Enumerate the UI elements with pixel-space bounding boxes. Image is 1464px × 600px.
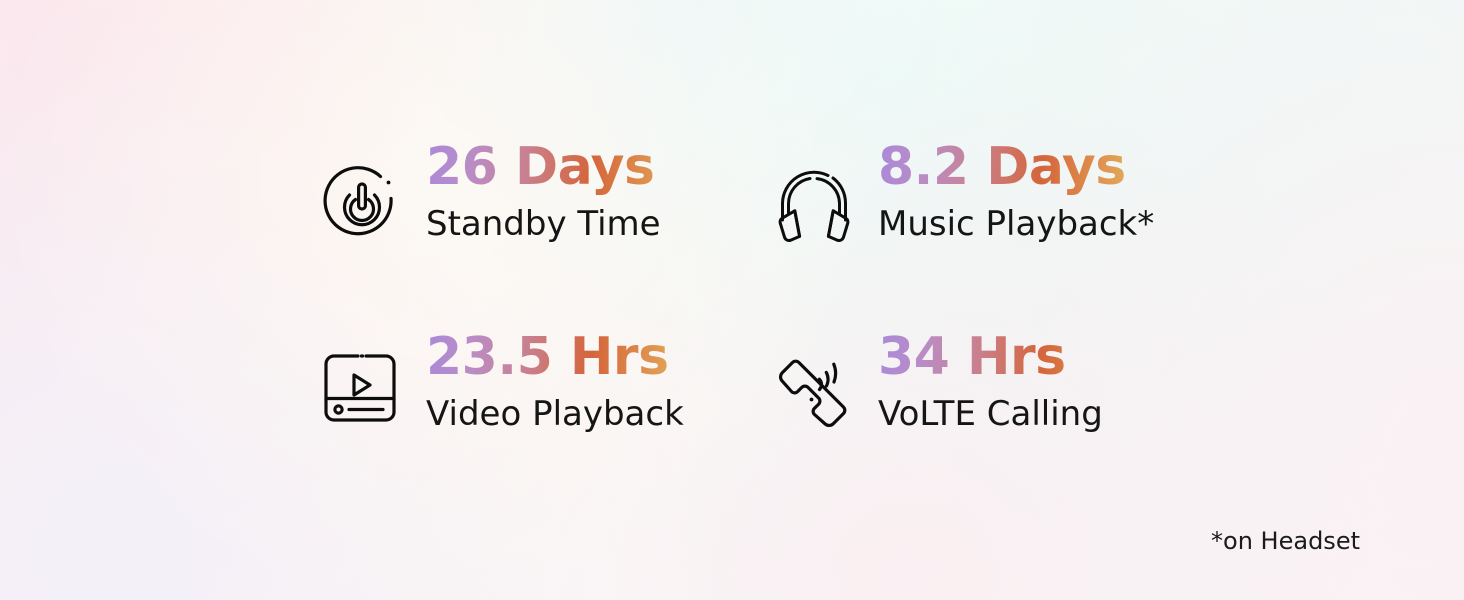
stat-value: 26 Days [426, 136, 770, 198]
stats-grid: 26 Days Standby Time 8.2 Days [318, 136, 1218, 466]
stat-label: Standby Time [426, 200, 770, 248]
power-button-icon [318, 136, 426, 250]
headphones-icon [770, 136, 878, 250]
ringing-phone-icon [770, 326, 878, 436]
stat-text-standby-time: 26 Days Standby Time [426, 136, 770, 248]
stat-value: 23.5 Hrs [426, 326, 770, 388]
stat-item-volte-calling: 34 Hrs VoLTE Calling [770, 326, 1218, 466]
stat-item-music-playback: 8.2 Days Music Playback* [770, 136, 1218, 326]
footnote-disclaimer: *on Headset [1211, 526, 1360, 556]
stat-item-video-playback: 23.5 Hrs Video Playback [318, 326, 770, 466]
stat-label: Video Playback [426, 390, 770, 438]
battery-specs-banner: 26 Days Standby Time 8.2 Days [0, 0, 1464, 600]
video-player-icon [318, 326, 426, 428]
stat-value: 8.2 Days [878, 136, 1218, 198]
stat-value: 34 Hrs [878, 326, 1218, 388]
stat-label: VoLTE Calling [878, 390, 1218, 438]
stat-item-standby-time: 26 Days Standby Time [318, 136, 770, 326]
stat-label: Music Playback* [878, 200, 1218, 248]
stat-text-music-playback: 8.2 Days Music Playback* [878, 136, 1218, 248]
stat-text-volte-calling: 34 Hrs VoLTE Calling [878, 326, 1218, 438]
stat-text-video-playback: 23.5 Hrs Video Playback [426, 326, 770, 438]
